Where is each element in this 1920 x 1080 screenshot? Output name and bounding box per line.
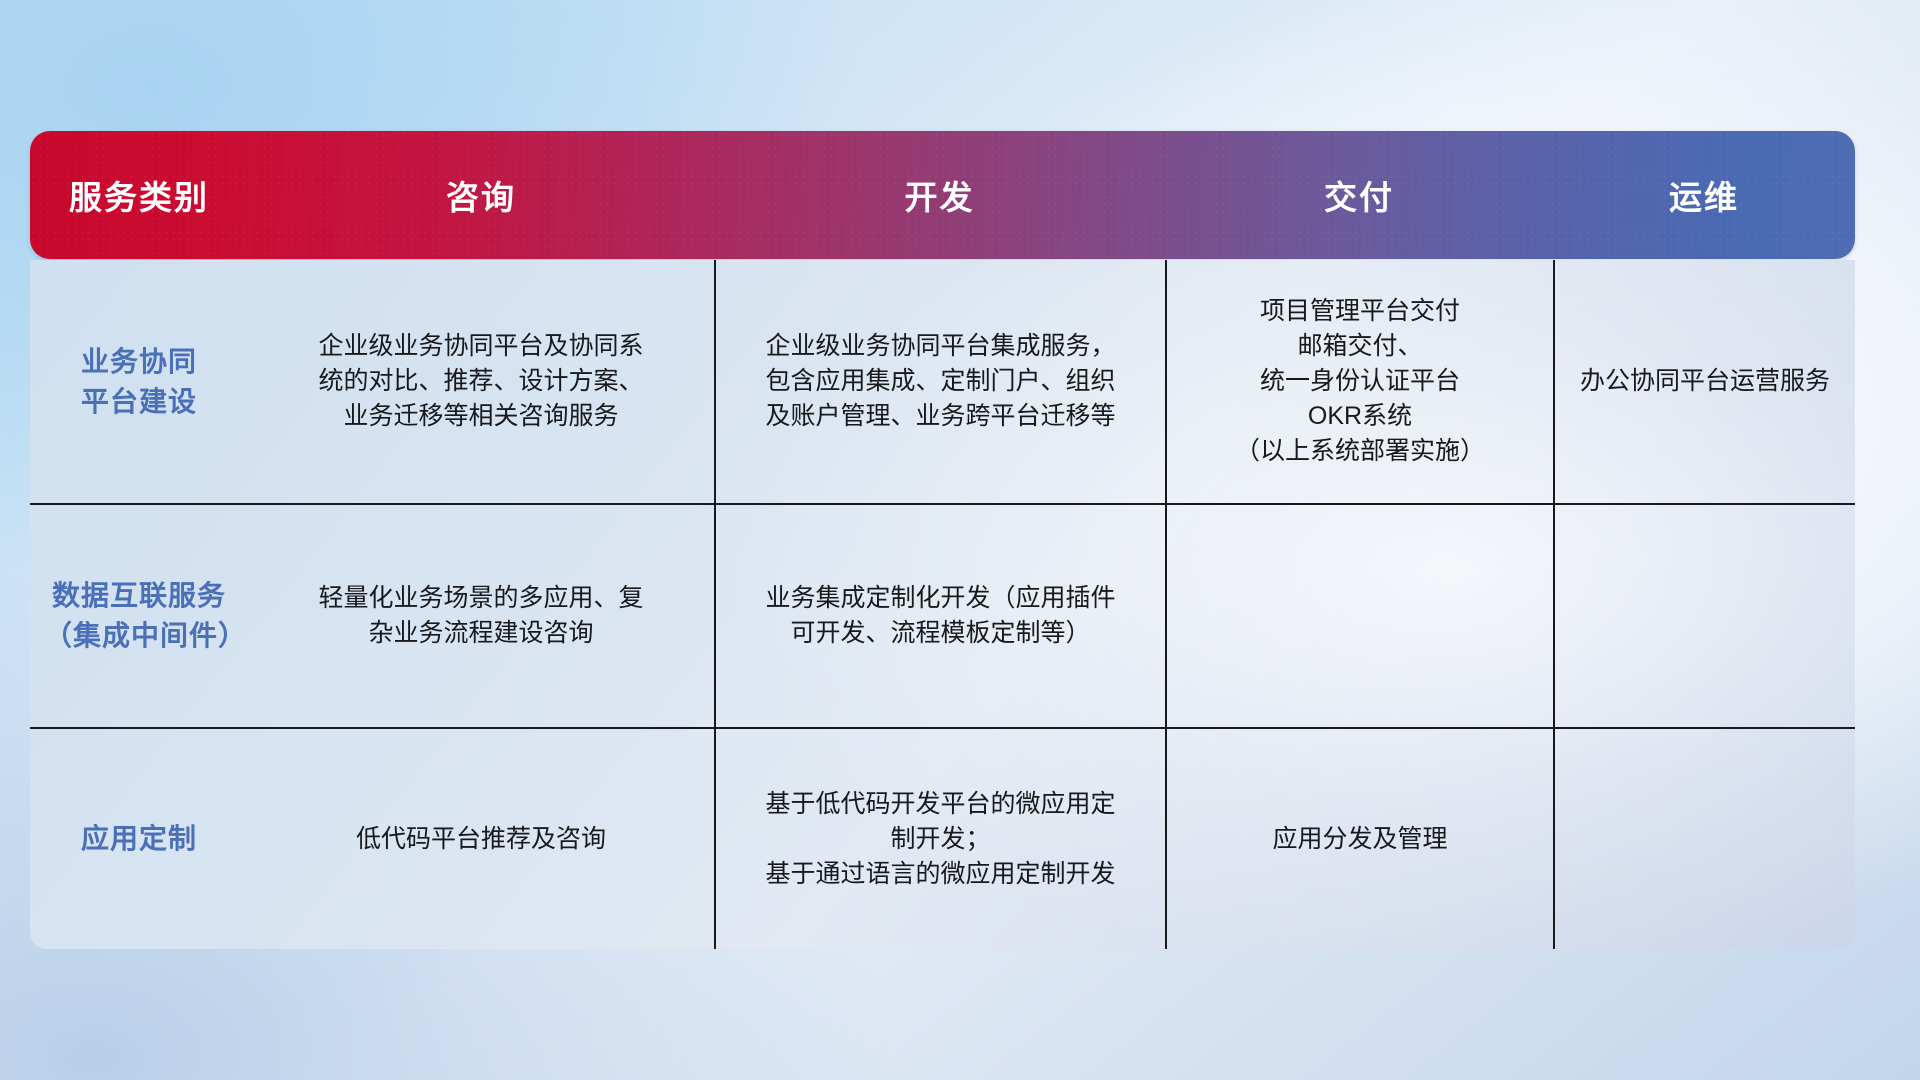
row-category-cell: 数据互联服务 （集成中间件） [30, 505, 248, 727]
cell-text: 办公协同平台运营服务 [1580, 364, 1830, 399]
cell-development: 企业级业务协同平台集成服务， 包含应用集成、定制门户、组织 及账户管理、业务跨平… [714, 260, 1165, 503]
table-row: 数据互联服务 （集成中间件） 轻量化业务场景的多应用、复 杂业务流程建设咨询 业… [30, 503, 1855, 727]
cell-development: 业务集成定制化开发（应用插件 可开发、流程模板定制等） [714, 505, 1165, 727]
category-label: 数据互联服务 （集成中间件） [44, 576, 234, 656]
column-header-operations: 运维 [1553, 171, 1855, 219]
table-body: 业务协同 平台建设 企业级业务协同平台及协同系 统的对比、推荐、设计方案、 业务… [30, 260, 1855, 949]
cell-text: 业务集成定制化开发（应用插件 可开发、流程模板定制等） [765, 581, 1115, 651]
cell-text: 基于低代码开发平台的微应用定 制开发； 基于通过语言的微应用定制开发 [765, 787, 1115, 892]
table-header-row: 服务类别 咨询 开发 交付 运维 [30, 131, 1855, 259]
cell-operations [1553, 505, 1855, 727]
column-header-delivery: 交付 [1165, 171, 1553, 219]
cell-text: 企业级业务协同平台及协同系 统的对比、推荐、设计方案、 业务迁移等相关咨询服务 [318, 329, 643, 434]
cell-text: 轻量化业务场景的多应用、复 杂业务流程建设咨询 [318, 581, 643, 651]
cell-operations: 办公协同平台运营服务 [1553, 260, 1855, 503]
table-row: 应用定制 低代码平台推荐及咨询 基于低代码开发平台的微应用定 制开发； 基于通过… [30, 727, 1855, 949]
cell-delivery: 项目管理平台交付 邮箱交付、 统一身份认证平台 OKR系统 （以上系统部署实施） [1165, 260, 1553, 503]
cell-operations [1553, 729, 1855, 949]
cell-text: 应用分发及管理 [1272, 822, 1447, 857]
slide-canvas: 服务类别 咨询 开发 交付 运维 业务协同 平台建设 企业级业务协同平台及协同系… [0, 0, 1920, 1080]
table-row: 业务协同 平台建设 企业级业务协同平台及协同系 统的对比、推荐、设计方案、 业务… [30, 260, 1855, 503]
cell-consulting: 低代码平台推荐及咨询 [248, 729, 714, 949]
column-header-development: 开发 [714, 171, 1165, 219]
category-label: 应用定制 [81, 819, 197, 859]
cell-consulting: 企业级业务协同平台及协同系 统的对比、推荐、设计方案、 业务迁移等相关咨询服务 [248, 260, 714, 503]
row-category-cell: 业务协同 平台建设 [30, 260, 248, 503]
cell-text: 低代码平台推荐及咨询 [356, 822, 606, 857]
category-label: 业务协同 平台建设 [81, 342, 197, 422]
cell-delivery: 应用分发及管理 [1165, 729, 1553, 949]
cell-consulting: 轻量化业务场景的多应用、复 杂业务流程建设咨询 [248, 505, 714, 727]
row-category-cell: 应用定制 [30, 729, 248, 949]
cell-development: 基于低代码开发平台的微应用定 制开发； 基于通过语言的微应用定制开发 [714, 729, 1165, 949]
cell-delivery [1165, 505, 1553, 727]
cell-text: 企业级业务协同平台集成服务， 包含应用集成、定制门户、组织 及账户管理、业务跨平… [765, 329, 1115, 434]
column-header-consulting: 咨询 [248, 171, 714, 219]
column-header-service-category: 服务类别 [30, 171, 248, 219]
service-category-table: 服务类别 咨询 开发 交付 运维 业务协同 平台建设 企业级业务协同平台及协同系… [30, 131, 1855, 949]
cell-text: 项目管理平台交付 邮箱交付、 统一身份认证平台 OKR系统 （以上系统部署实施） [1235, 294, 1485, 469]
